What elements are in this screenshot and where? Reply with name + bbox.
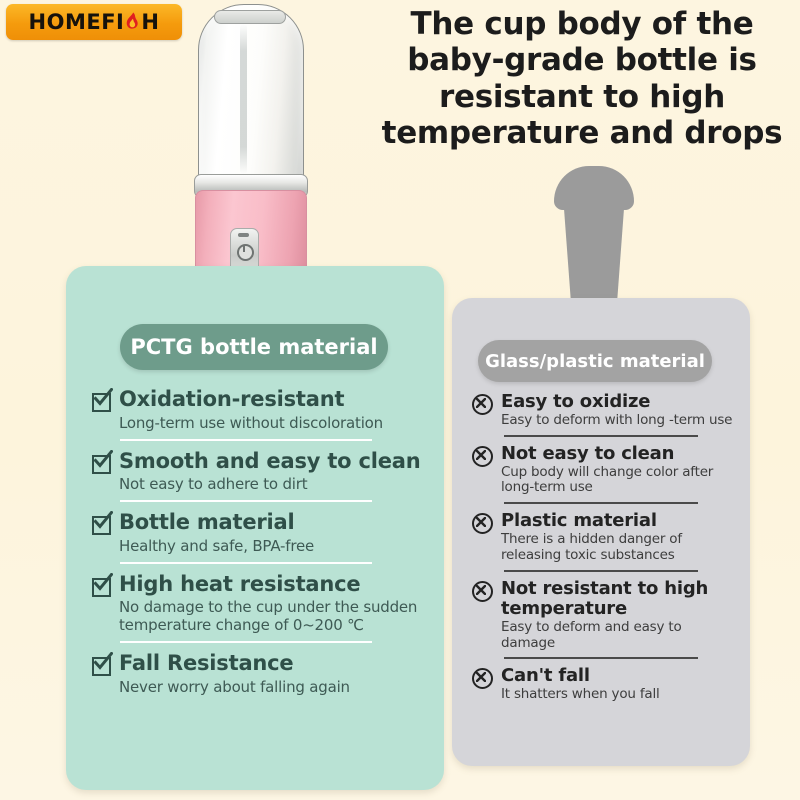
list-item-title: Easy to oxidize bbox=[501, 392, 738, 412]
blender-panel-top-mark bbox=[238, 233, 249, 237]
list-item: Oxidation-resistant Long-term use withou… bbox=[92, 388, 438, 432]
pctg-card-badge: PCTG bottle material bbox=[120, 324, 388, 370]
blender-cup-highlight bbox=[240, 24, 247, 174]
brand-name-before: HOMEFI bbox=[29, 12, 125, 33]
list-item: High heat resistance No damage to the cu… bbox=[92, 573, 438, 635]
headline-line-3: resistant to high bbox=[372, 79, 792, 115]
headline-line-4: temperature and drops bbox=[372, 115, 792, 151]
list-item-title: Oxidation-resistant bbox=[119, 388, 438, 412]
list-divider bbox=[504, 570, 698, 572]
list-item-title: Fall Resistance bbox=[119, 652, 438, 676]
blender-lid bbox=[214, 10, 286, 24]
list-item: Not easy to clean Cup body will change c… bbox=[472, 444, 738, 497]
glass-plastic-card-badge: Glass/plastic material bbox=[478, 340, 712, 382]
list-divider bbox=[120, 641, 372, 643]
list-item-title: Not easy to clean bbox=[501, 444, 738, 464]
brand-name-after: H bbox=[141, 12, 159, 33]
list-item-title: Plastic material bbox=[501, 511, 738, 531]
list-item-title: Not resistant to high temperature bbox=[501, 579, 738, 619]
brand-logo: HOMEFI H bbox=[6, 4, 182, 40]
list-item: Easy to oxidize Easy to deform with long… bbox=[472, 392, 738, 429]
power-button-icon bbox=[237, 244, 254, 261]
list-item-subtitle: Easy to deform and easy to damage bbox=[501, 620, 738, 652]
list-item-title: Smooth and easy to clean bbox=[119, 450, 438, 474]
list-item-title: High heat resistance bbox=[119, 573, 438, 597]
list-item: Bottle material Healthy and safe, BPA-fr… bbox=[92, 511, 438, 555]
blender-cup bbox=[198, 4, 304, 192]
silhouette-lid bbox=[554, 166, 634, 210]
product-image-blender bbox=[186, 0, 314, 290]
circle-x-icon bbox=[472, 513, 493, 534]
pctg-benefit-list: Oxidation-resistant Long-term use withou… bbox=[92, 388, 438, 696]
circle-x-icon bbox=[472, 581, 493, 602]
pctg-benefits-card: PCTG bottle material Oxidation-resistant… bbox=[66, 266, 444, 790]
list-item: Fall Resistance Never worry about fallin… bbox=[92, 652, 438, 696]
list-divider bbox=[120, 439, 372, 441]
checkbox-checked-icon bbox=[92, 453, 111, 472]
list-divider bbox=[504, 657, 698, 659]
list-item-subtitle: Long-term use without discoloration bbox=[119, 414, 438, 432]
list-divider bbox=[504, 502, 698, 504]
list-item: Plastic material There is a hidden dange… bbox=[472, 511, 738, 564]
list-item-subtitle: Not easy to adhere to dirt bbox=[119, 475, 438, 493]
checkbox-checked-icon bbox=[92, 514, 111, 533]
glass-plastic-drawback-list: Easy to oxidize Easy to deform with long… bbox=[472, 392, 738, 703]
list-item-title: Can't fall bbox=[501, 666, 738, 686]
checkbox-checked-icon bbox=[92, 391, 111, 410]
list-item-subtitle: No damage to the cup under the sudden te… bbox=[119, 598, 438, 634]
headline-line-1: The cup body of the bbox=[372, 6, 792, 42]
headline: The cup body of the baby-grade bottle is… bbox=[372, 6, 792, 151]
list-item-subtitle: Never worry about falling again bbox=[119, 678, 438, 696]
glass-plastic-drawbacks-card: Glass/plastic material Easy to oxidize E… bbox=[452, 298, 750, 766]
list-item-subtitle: It shatters when you fall bbox=[501, 687, 738, 703]
list-divider bbox=[120, 562, 372, 564]
list-item: Can't fall It shatters when you fall bbox=[472, 666, 738, 703]
list-item-subtitle: Easy to deform with long -term use bbox=[501, 413, 738, 429]
flame-icon bbox=[124, 11, 141, 33]
list-item: Not resistant to high temperature Easy t… bbox=[472, 579, 738, 651]
list-divider bbox=[120, 500, 372, 502]
circle-x-icon bbox=[472, 668, 493, 689]
brand-logo-text: HOMEFI H bbox=[29, 11, 160, 33]
checkbox-checked-icon bbox=[92, 576, 111, 595]
list-divider bbox=[504, 435, 698, 437]
headline-line-2: baby-grade bottle is bbox=[372, 42, 792, 78]
circle-x-icon bbox=[472, 394, 493, 415]
list-item: Smooth and easy to clean Not easy to adh… bbox=[92, 450, 438, 494]
checkbox-checked-icon bbox=[92, 655, 111, 674]
circle-x-icon bbox=[472, 446, 493, 467]
list-item-subtitle: There is a hidden danger of releasing to… bbox=[501, 532, 738, 564]
list-item-title: Bottle material bbox=[119, 511, 438, 535]
list-item-subtitle: Cup body will change color after long-te… bbox=[501, 465, 738, 497]
infographic-page: HOMEFI H The cup body of the baby-grade … bbox=[0, 0, 800, 800]
list-item-subtitle: Healthy and safe, BPA-free bbox=[119, 537, 438, 555]
